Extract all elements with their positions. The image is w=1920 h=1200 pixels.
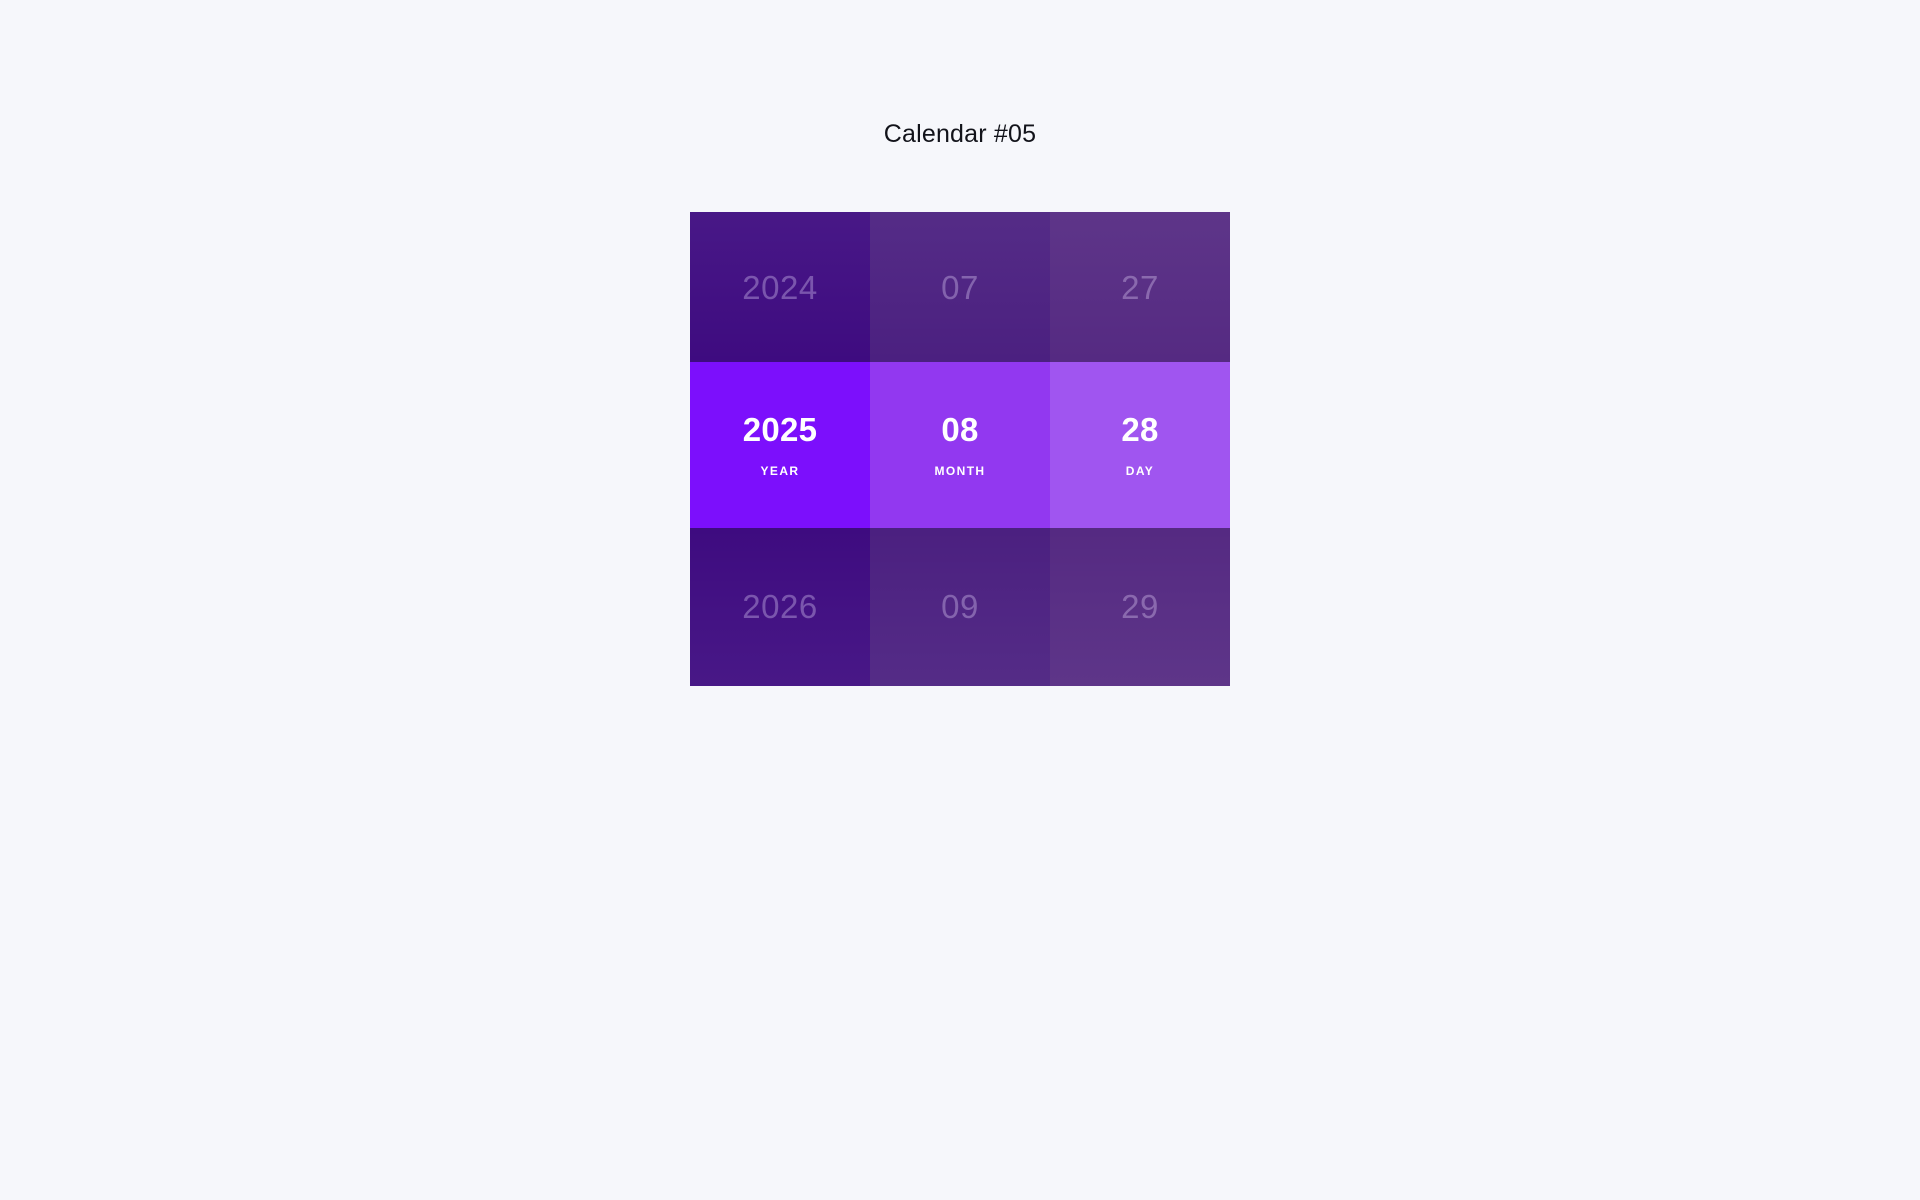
day-next-cell[interactable]: 29 <box>1050 528 1230 686</box>
month-selected-value: 08 <box>941 411 978 449</box>
day-selected-value: 28 <box>1121 411 1158 449</box>
month-next-value: 09 <box>941 587 979 627</box>
day-next-value: 29 <box>1121 587 1159 627</box>
month-unit-label: MONTH <box>935 464 986 479</box>
year-previous-cell[interactable]: 2024 <box>690 212 870 362</box>
month-next-cell[interactable]: 09 <box>870 528 1050 686</box>
day-selected-cell[interactable]: 28 DAY <box>1050 362 1230 528</box>
year-selected-value: 2025 <box>743 411 818 449</box>
page-title: Calendar #05 <box>0 117 1920 151</box>
year-selected-cell[interactable]: 2025 YEAR <box>690 362 870 528</box>
calendar-page: Calendar #05 2024 07 27 2025 YEAR 08 MON… <box>0 0 1920 1200</box>
year-next-cell[interactable]: 2026 <box>690 528 870 686</box>
day-previous-cell[interactable]: 27 <box>1050 212 1230 362</box>
year-previous-value: 2024 <box>742 268 817 308</box>
year-unit-label: YEAR <box>761 464 800 479</box>
month-previous-cell[interactable]: 07 <box>870 212 1050 362</box>
day-previous-value: 27 <box>1121 268 1159 308</box>
year-next-value: 2026 <box>742 587 817 627</box>
day-unit-label: DAY <box>1126 464 1154 479</box>
month-previous-value: 07 <box>941 268 979 308</box>
date-picker-grid: 2024 07 27 2025 YEAR 08 MONTH 28 DAY 202… <box>690 212 1230 686</box>
month-selected-cell[interactable]: 08 MONTH <box>870 362 1050 528</box>
